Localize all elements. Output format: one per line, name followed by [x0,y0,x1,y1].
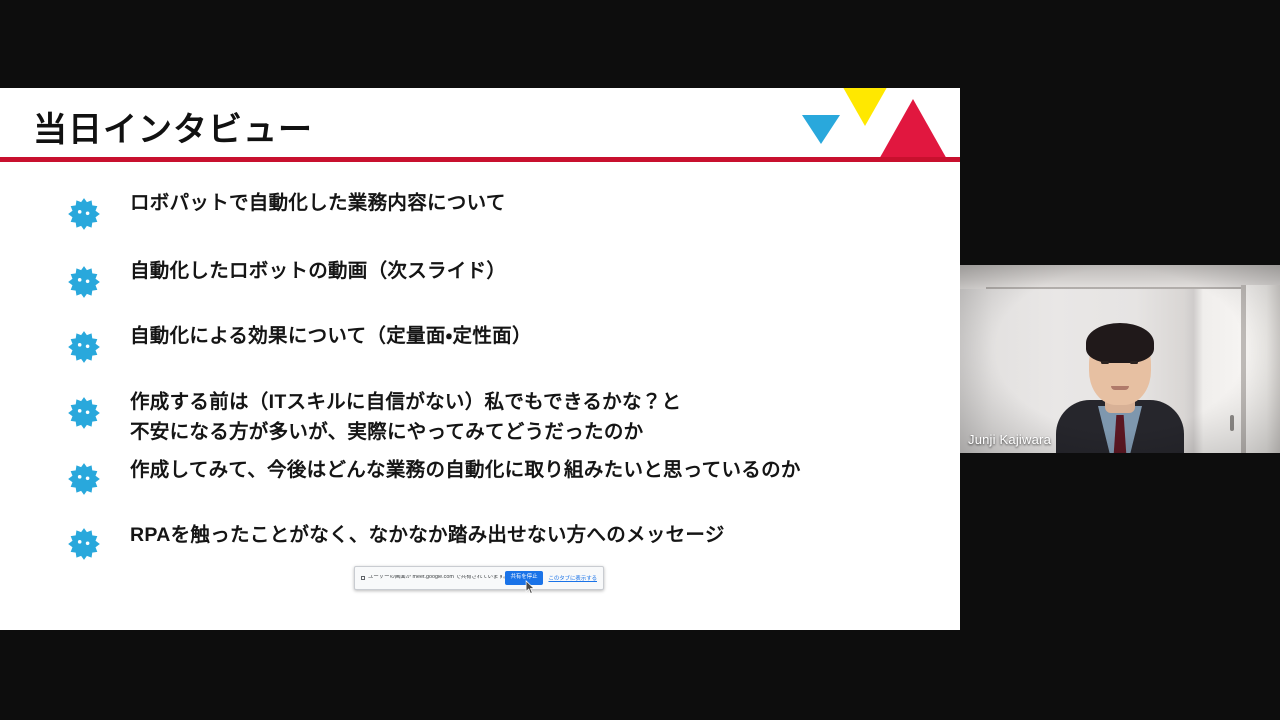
gear-bullet-icon [66,329,102,365]
stop-sharing-square-icon [360,575,366,581]
list-item-label: 自動化したロボットの動画（次スライド） [130,256,506,286]
list-item: 作成する前は（ITスキルに自信がない）私でもできるかな？と 不安になる方が多いが… [0,387,960,455]
slide-title: 当日インタビュー [33,102,313,151]
list-item-label: 作成してみて、今後はどんな業務の自動化に取り組みたいと思っているのか [130,455,801,485]
list-item-label: 自動化による効果について（定量面・定性面） [130,321,532,351]
screen-share-notification-bar: ユーザーの画面が meet.google.com で共有されています。 共有を停… [354,566,604,590]
title-underline-rule [0,157,960,162]
list-item: ロボパットで自動化した業務内容について [0,188,960,256]
shared-screen-slide: 当日インタビュー ロボパットで自動化した業務内容について [0,88,960,630]
gear-bullet-icon [66,461,102,497]
participant-video-tile[interactable]: Junji Kajiwara [960,265,1280,453]
slide-decoration-triangles [780,88,960,161]
gear-bullet-icon [66,196,102,232]
video-vignette [960,265,1280,453]
list-item-label: ロボパットで自動化した業務内容について [130,188,506,218]
list-item: 自動化したロボットの動画（次スライド） [0,256,960,321]
triangle-cyan-down-icon [802,115,840,144]
gear-bullet-icon [66,526,102,562]
slide-bullet-list: ロボパットで自動化した業務内容について 自動化したロボットの動画（次スライド） … [0,188,960,580]
list-item: 作成してみて、今後はどんな業務の自動化に取り組みたいと思っているのか [0,455,960,520]
participant-name-label: Junji Kajiwara [968,432,1051,447]
meeting-screen: 当日インタビュー ロボパットで自動化した業務内容について [0,0,1280,720]
share-notification-message: ユーザーの画面が meet.google.com で共有されています。 [368,575,505,580]
slide-header: 当日インタビュー [0,88,960,161]
triangle-red-up-icon [878,99,948,161]
stop-sharing-button[interactable]: 共有を停止 [505,571,544,584]
gear-bullet-icon [66,264,102,300]
show-in-tab-link[interactable]: このタブに表示する [548,574,597,582]
gear-bullet-icon [66,395,102,431]
list-item-label: 作成する前は（ITスキルに自信がない）私でもできるかな？と 不安になる方が多いが… [130,387,681,447]
list-item-label: RPAを触ったことがなく、なかなか踏み出せない方へのメッセージ [130,520,725,550]
list-item: 自動化による効果について（定量面・定性面） [0,321,960,387]
